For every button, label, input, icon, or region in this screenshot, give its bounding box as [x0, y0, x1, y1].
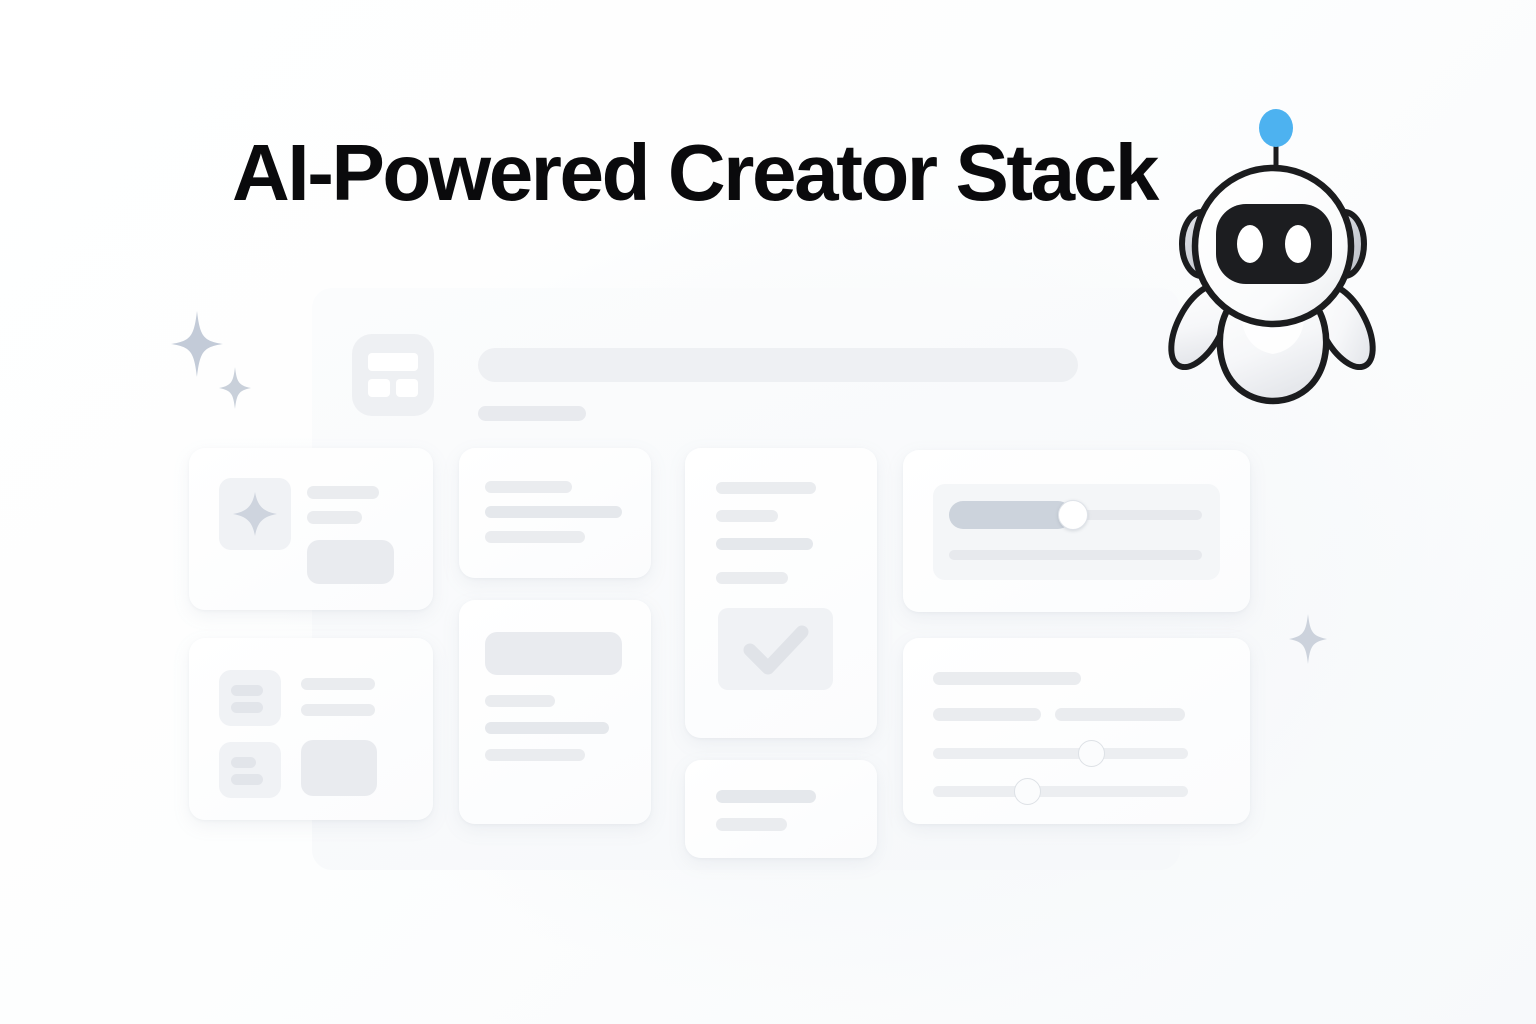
card-line [485, 722, 609, 734]
primary-slider-thumb[interactable] [1058, 500, 1088, 530]
sparkle-icon [219, 478, 291, 550]
card-line [716, 818, 787, 831]
dashboard-layout-icon [352, 334, 434, 416]
module-tile-bar [231, 685, 263, 696]
card-line [933, 708, 1041, 721]
sparkle-large-icon [169, 309, 225, 379]
card-block [485, 632, 622, 675]
card-line [485, 531, 585, 543]
card-line [933, 672, 1081, 685]
ai-robot-mascot [1158, 104, 1388, 444]
panel-header [352, 334, 1092, 424]
sparkle-icon-tile [219, 478, 291, 550]
sparkle-right-icon [1288, 613, 1328, 665]
antenna-light-icon [1259, 109, 1293, 147]
card-line [307, 486, 379, 499]
note-card[interactable] [685, 760, 877, 858]
page-title: AI-Powered Creator Stack [232, 133, 1157, 213]
card-line [716, 538, 813, 550]
robot-eye-left [1237, 225, 1263, 263]
media-preview-card[interactable] [459, 600, 651, 824]
card-line [485, 506, 622, 518]
module-list-card[interactable] [189, 638, 433, 820]
range-slider-two-thumb[interactable] [1014, 778, 1041, 805]
card-line [716, 482, 816, 494]
range-slider-two-track[interactable] [933, 786, 1188, 797]
checklist-card[interactable] [685, 448, 877, 738]
check-icon [718, 608, 833, 690]
settings-slider-card[interactable] [903, 450, 1250, 612]
controls-card[interactable] [903, 638, 1250, 824]
card-line [485, 695, 555, 707]
card-line [485, 481, 572, 493]
card-line [301, 678, 375, 690]
secondary-slider-track[interactable] [949, 550, 1202, 560]
range-slider-one-thumb[interactable] [1078, 740, 1105, 767]
module-tile[interactable] [219, 742, 281, 798]
module-tile-bar [231, 757, 256, 768]
sparkle-small-icon [218, 366, 252, 410]
card-line [716, 790, 816, 803]
hero-illustration-stage: AI-Powered Creator Stack [0, 0, 1536, 1024]
card-line [485, 749, 585, 761]
primary-slider-fill [949, 501, 1072, 529]
card-block [307, 540, 394, 584]
card-line [716, 572, 788, 584]
panel-subtitle-skeleton [478, 406, 586, 421]
card-block [301, 740, 377, 796]
card-line [1055, 708, 1185, 721]
primary-slider-track[interactable] [949, 510, 1202, 520]
card-line [301, 704, 375, 716]
check-icon-tile [718, 608, 833, 690]
ai-feature-card[interactable] [189, 448, 433, 610]
text-summary-card[interactable] [459, 448, 651, 578]
dashboard-layout-icon-square-left [368, 379, 390, 397]
search-input[interactable] [478, 348, 1078, 382]
panel-header-lines [478, 334, 1092, 421]
dashboard-layout-icon-bar [368, 353, 418, 371]
range-slider-one-track[interactable] [933, 748, 1188, 759]
card-line [716, 510, 778, 522]
robot-eye-right [1285, 225, 1311, 263]
slider-inner-panel [933, 484, 1220, 580]
robot-visor [1216, 204, 1332, 284]
module-tile-bar [231, 774, 263, 785]
module-tile[interactable] [219, 670, 281, 726]
module-tile-bar [231, 702, 263, 713]
card-line [307, 511, 362, 524]
dashboard-layout-icon-square-right [396, 379, 418, 397]
